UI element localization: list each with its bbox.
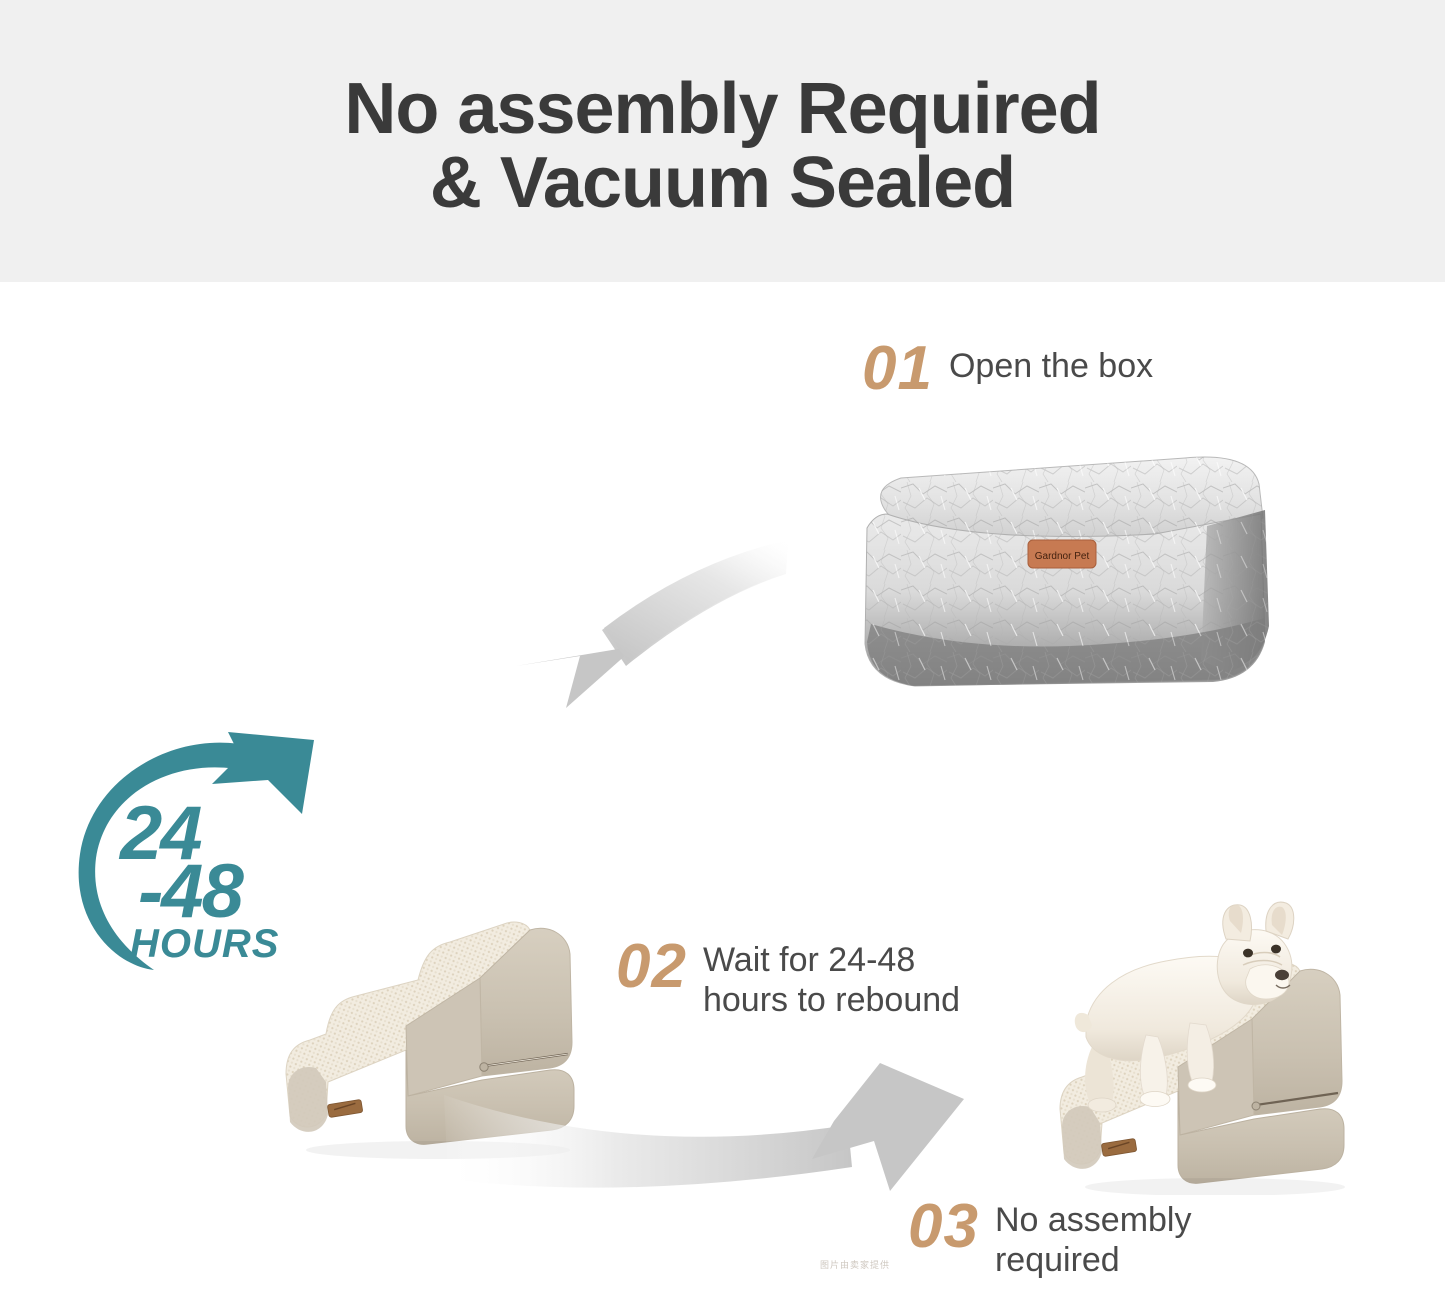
watermark-text: 图片由卖家提供 [795, 1258, 915, 1271]
pet-stairs-with-dog-image [1050, 895, 1400, 1200]
dog-nose [1275, 970, 1289, 980]
step-01-text: Open the box [949, 338, 1153, 386]
step-03-label: 03 No assembly required [908, 1196, 1191, 1280]
package-brand-label-text: Gardnor Pet [1035, 551, 1090, 562]
arrow-step2-to-step3 [430, 1055, 970, 1225]
package-brand-label: Gardnor Pet [1028, 540, 1096, 568]
arrow-step1-to-step2 [390, 470, 790, 740]
step-02-text: Wait for 24-48 hours to rebound [703, 936, 960, 1020]
dog-eye-right [1271, 945, 1281, 954]
vacuum-sealed-package-image: Gardnor Pet [855, 448, 1275, 703]
step-02-number: 02 [616, 936, 687, 998]
dog-eye-left [1243, 949, 1253, 958]
dog-paw-front [1188, 1078, 1216, 1092]
infographic-page: No assembly Required & Vacuum Sealed 01 … [0, 0, 1445, 1294]
stairs-front-curve [288, 1067, 328, 1132]
stairs-leather-tag [327, 1099, 363, 1117]
dog-paw-rear [1140, 1092, 1170, 1107]
step-01-number: 01 [862, 338, 933, 400]
step-03-number: 03 [908, 1196, 979, 1258]
page-title: No assembly Required & Vacuum Sealed [0, 72, 1445, 220]
step-01-label: 01 Open the box [862, 338, 1153, 400]
page-title-line-1: No assembly Required [344, 69, 1100, 149]
step-03-text: No assembly required [995, 1196, 1192, 1280]
step-02-label: 02 Wait for 24-48 hours to rebound [616, 936, 960, 1020]
stairs2-leather-tag [1101, 1138, 1137, 1156]
page-title-line-2: & Vacuum Sealed [0, 146, 1445, 220]
